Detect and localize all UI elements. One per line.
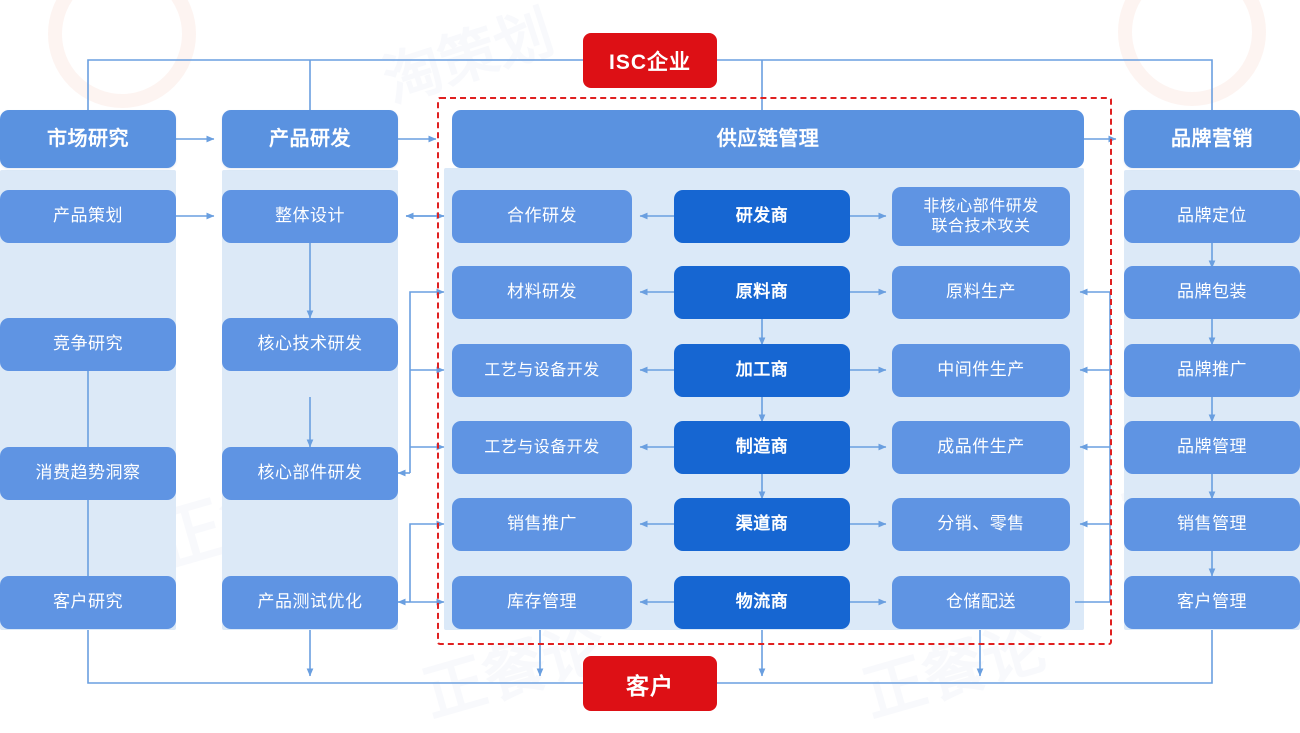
isc-scope-frame <box>437 97 1112 645</box>
brand-item-4[interactable]: 销售管理 <box>1124 498 1300 551</box>
diagram-canvas: 淘策划 正餐论 正餐 正餐论 正餐论 <box>0 0 1300 733</box>
brand-item-3[interactable]: 品牌管理 <box>1124 421 1300 474</box>
rnd-item-1[interactable]: 核心技术研发 <box>222 318 398 371</box>
market-item-1[interactable]: 竞争研究 <box>0 318 176 371</box>
market-item-3[interactable]: 客户研究 <box>0 576 176 629</box>
rnd-item-3[interactable]: 产品测试优化 <box>222 576 398 629</box>
market-item-0[interactable]: 产品策划 <box>0 190 176 243</box>
brand-item-2[interactable]: 品牌推广 <box>1124 344 1300 397</box>
watermark <box>1118 0 1266 106</box>
column-header-market[interactable]: 市场研究 <box>0 110 176 168</box>
customer-badge[interactable]: 客户 <box>583 656 717 711</box>
watermark <box>48 0 196 108</box>
isc-enterprise-badge[interactable]: ISC企业 <box>583 33 717 88</box>
brand-item-5[interactable]: 客户管理 <box>1124 576 1300 629</box>
market-item-2[interactable]: 消费趋势洞察 <box>0 447 176 500</box>
brand-item-0[interactable]: 品牌定位 <box>1124 190 1300 243</box>
rnd-item-2[interactable]: 核心部件研发 <box>222 447 398 500</box>
column-header-rnd[interactable]: 产品研发 <box>222 110 398 168</box>
column-header-brand[interactable]: 品牌营销 <box>1124 110 1300 168</box>
rnd-item-0[interactable]: 整体设计 <box>222 190 398 243</box>
brand-item-1[interactable]: 品牌包装 <box>1124 266 1300 319</box>
